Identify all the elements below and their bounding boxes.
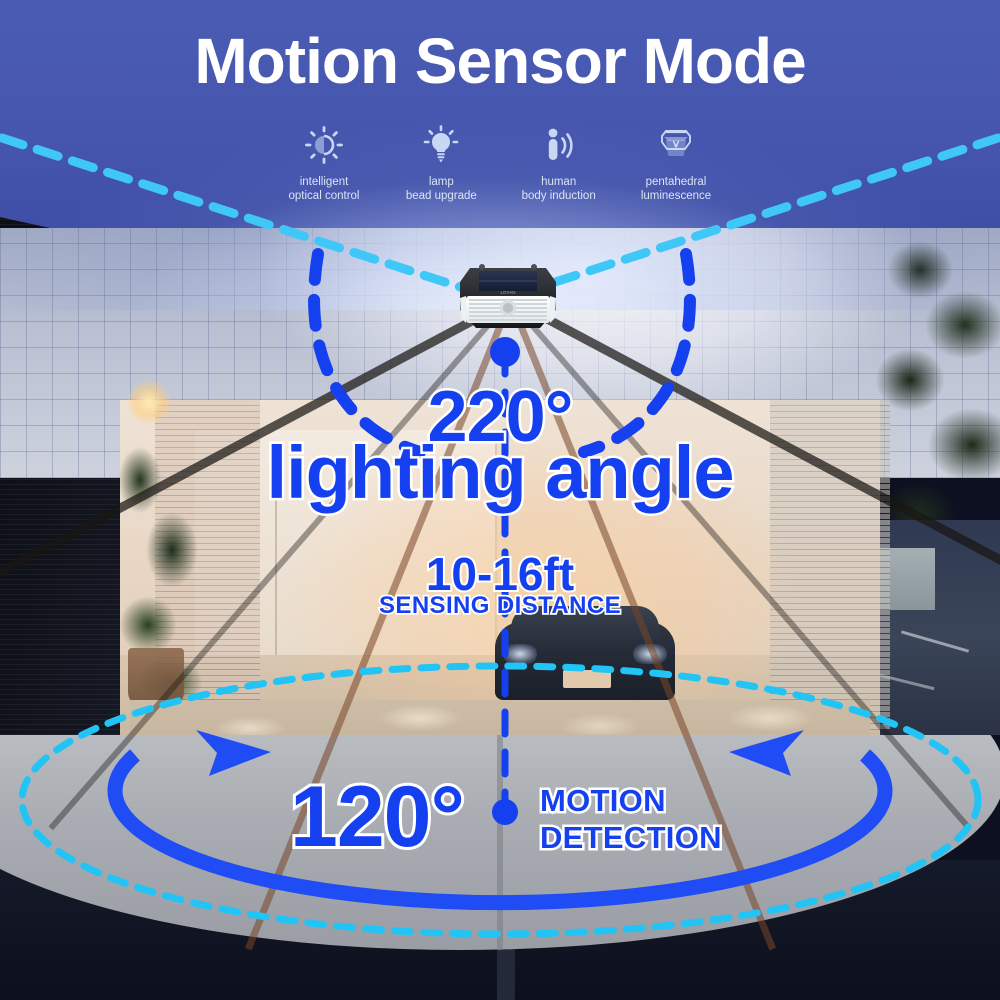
feature-lamp-bead-upgrade: lamp bead upgrade (385, 118, 497, 203)
feature-caption: intelligent optical control (289, 176, 360, 203)
feature-caption-line2: body induction (522, 190, 596, 204)
feature-caption: pentahedral luminescence (641, 176, 711, 203)
feature-row: intelligent optical control (268, 118, 732, 203)
brand-mark: LOYAN (501, 290, 516, 295)
feature-intelligent-optical-control: intelligent optical control (268, 118, 380, 203)
sweep-arrowhead-right (729, 730, 804, 776)
feature-caption: lamp bead upgrade (406, 176, 477, 203)
light-bulb-icon (421, 118, 461, 172)
lighting-angle-label: lighting angle (0, 430, 1000, 515)
led-array-right-wing (550, 296, 556, 323)
feature-caption-line1: intelligent (289, 176, 360, 190)
feature-caption: human body induction (522, 176, 596, 203)
feature-caption-line2: optical control (289, 190, 360, 204)
feature-caption-line1: human (522, 176, 596, 190)
motion-detection-value: 120° (290, 768, 464, 867)
feature-human-body-induction: human body induction (503, 118, 615, 203)
pentahedral-lamp-icon (654, 118, 698, 172)
led-array-left-wing (460, 296, 466, 323)
feature-caption-line2: luminescence (641, 190, 711, 204)
mount-screw-right (531, 264, 537, 270)
sensing-distance-label: SENSING DISTANCE (0, 592, 1000, 620)
ground-anchor-dot (492, 799, 518, 825)
infographic-canvas: LOYAN Motion Sensor Mode intel (0, 0, 1000, 1000)
motion-detection-label: MOTION DETECTION (540, 782, 722, 856)
feature-caption-line1: pentahedral (641, 176, 711, 190)
motion-detection-label-line1: MOTION (540, 782, 722, 819)
feature-caption-line1: lamp (406, 176, 477, 190)
feature-pentahedral-luminescence: pentahedral luminescence (620, 118, 732, 203)
sweep-arrowhead-left (196, 730, 271, 776)
page-title: Motion Sensor Mode (0, 24, 1000, 98)
solar-wall-light-product: LOYAN (452, 258, 564, 350)
sun-brightness-icon (304, 118, 344, 172)
feature-caption-line2: bead upgrade (406, 190, 477, 204)
motion-sweep-arc (115, 755, 885, 903)
motion-detection-label-line2: DETECTION (540, 819, 722, 856)
human-body-induction-icon (539, 118, 579, 172)
mount-screw-left (479, 264, 485, 270)
